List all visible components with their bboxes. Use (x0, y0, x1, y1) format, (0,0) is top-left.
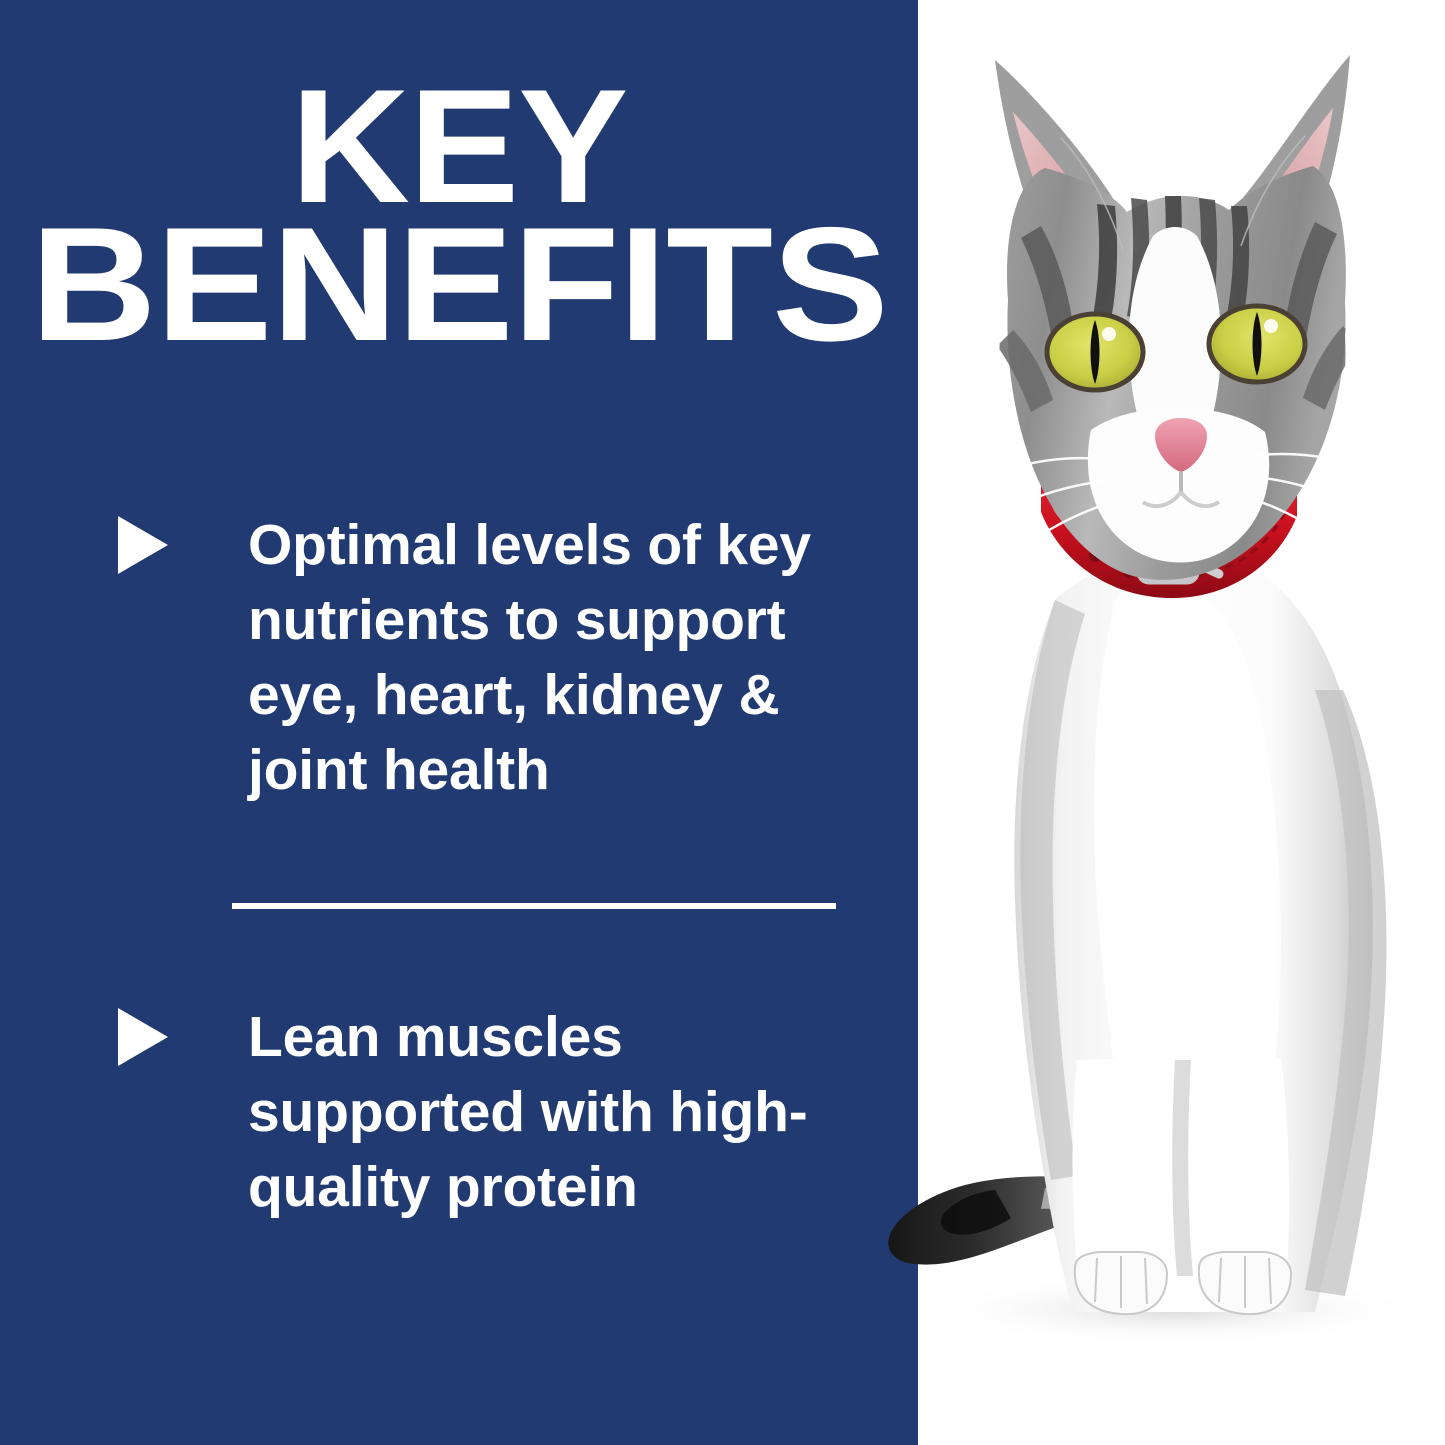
page-title-line-2: BENEFITS (0, 216, 955, 354)
cat-neck (1057, 357, 1287, 548)
key-benefits-panel: KEY BENEFITS Optimal levels of key nutri… (0, 0, 1445, 1445)
benefit-item-label: Lean muscles supported with high-quality… (248, 1000, 848, 1225)
divider (232, 903, 836, 909)
benefit-item: Optimal levels of key nutrients to suppo… (118, 508, 878, 808)
benefit-item-label: Optimal levels of key nutrients to suppo… (248, 508, 848, 808)
cat-front-legs (1073, 1058, 1292, 1314)
cat-tail (888, 1176, 1165, 1264)
benefit-item: Lean muscles supported with high-quality… (118, 1000, 878, 1225)
ground-shadow (925, 1274, 1425, 1346)
triangle-right-icon (118, 1008, 168, 1066)
cat-eye-left (1047, 314, 1143, 390)
cat-collar (1041, 476, 1297, 598)
cat-nose (1155, 418, 1207, 492)
page-title: KEY BENEFITS (0, 78, 927, 354)
cat-body (1014, 545, 1386, 1312)
triangle-right-icon (118, 516, 168, 574)
collar-buckle (1055, 485, 1219, 580)
cat-eye-right (1209, 306, 1305, 382)
cat-head (941, 55, 1415, 592)
